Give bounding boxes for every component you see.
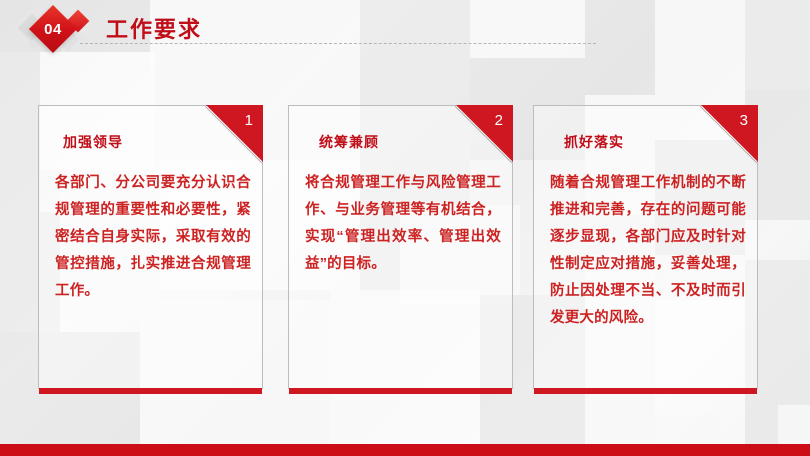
card-3: 3 抓好落实 随着合规管理工作机制的不断推进和完善，存在的问题可能逐步显现，各部… bbox=[533, 105, 758, 389]
card-title: 统筹兼顾 bbox=[319, 132, 379, 152]
corner-fold-line-icon bbox=[700, 106, 757, 163]
slide: 04 工作要求 1 加强领导 各部门、分公司要充分认识合规管理的重要性和必要性，… bbox=[0, 0, 810, 456]
card-foot-bar bbox=[534, 388, 757, 394]
bg-shape bbox=[778, 405, 810, 445]
dashed-divider bbox=[80, 43, 596, 44]
corner-fold-line-icon bbox=[455, 106, 512, 163]
card-title: 加强领导 bbox=[63, 132, 123, 152]
card-title: 抓好落实 bbox=[564, 132, 624, 152]
header: 04 工作要求 bbox=[0, 0, 810, 56]
corner-fold-line-icon bbox=[205, 106, 262, 163]
bg-shape bbox=[595, 415, 720, 445]
bg-shape bbox=[0, 52, 40, 212]
card-body: 将合规管理工作与风险管理工作、与业务管理等有机结合，实现“管理出效率、管理出效益… bbox=[305, 170, 501, 278]
diamond-badge-icon: 04 bbox=[16, 4, 96, 56]
card-foot-bar bbox=[39, 388, 262, 394]
card-1: 1 加强领导 各部门、分公司要充分认识合规管理的重要性和必要性，紧密结合自身实际… bbox=[38, 105, 263, 389]
card-body: 随着合规管理工作机制的不断推进和完善，存在的问题可能逐步显现，各部门应及时针对性… bbox=[550, 170, 746, 332]
card-foot-bar bbox=[289, 388, 512, 394]
bottom-accent-bar bbox=[0, 444, 810, 456]
card-body: 各部门、分公司要充分认识合规管理的重要性和必要性，紧密结合自身实际，采取有效的管… bbox=[55, 170, 251, 305]
card-2: 2 统筹兼顾 将合规管理工作与风险管理工作、与业务管理等有机结合，实现“管理出效… bbox=[288, 105, 513, 389]
page-title: 工作要求 bbox=[106, 12, 202, 44]
section-number: 04 bbox=[36, 12, 70, 46]
